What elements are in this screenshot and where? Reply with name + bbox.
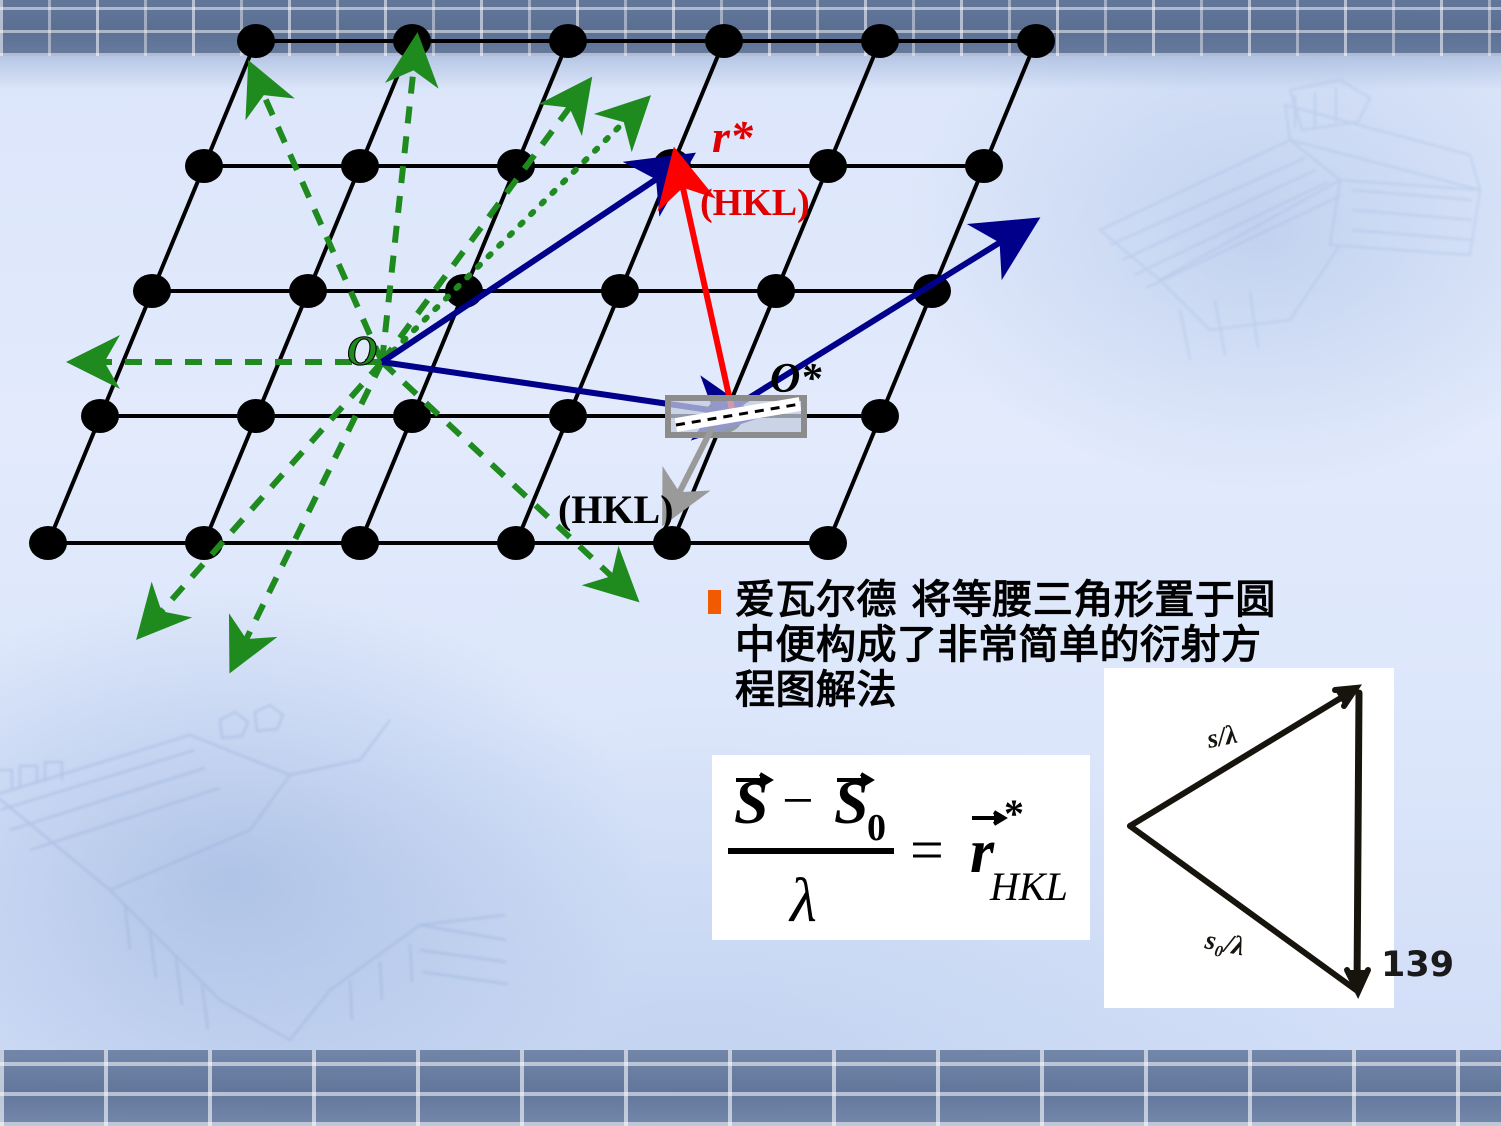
formula-hkl-sub: HKL bbox=[989, 864, 1068, 909]
slide-canvas: r* (HKL) O O* (HKL) 爱瓦尔德 将等腰三角形置于圆 中便构成了… bbox=[0, 0, 1501, 1126]
triangle-edge-vertical bbox=[1357, 693, 1359, 990]
diffracted-beam bbox=[723, 230, 1020, 414]
formula-S: S bbox=[734, 769, 768, 837]
formula-svg: S − S 0 λ = * r HKL bbox=[712, 755, 1090, 940]
bullet-marker bbox=[708, 590, 721, 614]
body-text-line-2: 中便构成了非常简单的衍射方 bbox=[735, 623, 1276, 668]
formula-box: S − S 0 λ = * r HKL bbox=[712, 755, 1090, 940]
formula-minus: − bbox=[782, 770, 814, 832]
vector-triangle-figure: s/λ s₀/λ bbox=[1104, 668, 1394, 1008]
formula-S0-sub: 0 bbox=[867, 807, 886, 849]
triangle-edge-s bbox=[1130, 690, 1354, 826]
triangle-edge-s0 bbox=[1130, 826, 1356, 990]
label-r-star: r* bbox=[712, 111, 754, 162]
formula-equals: = bbox=[910, 817, 944, 883]
page-number: 139 bbox=[1381, 945, 1454, 985]
formula-r-star: * bbox=[1004, 791, 1024, 836]
label-origin-star: O* bbox=[770, 356, 822, 402]
label-hkl-red: (HKL) bbox=[700, 182, 810, 224]
label-origin: O bbox=[347, 329, 377, 375]
triangle-label-upper: s/λ bbox=[1203, 719, 1239, 754]
reflecting-plane-box bbox=[668, 398, 804, 435]
formula-S0: S bbox=[834, 769, 868, 837]
body-text-line-1: 爱瓦尔德 将等腰三角形置于圆 bbox=[735, 578, 1276, 623]
plane-trace-dotted bbox=[382, 112, 634, 362]
lattice-grid bbox=[48, 41, 1043, 543]
triangle-label-lower: s₀/λ bbox=[1202, 924, 1247, 961]
vector-triangle-svg: s/λ s₀/λ bbox=[1104, 668, 1394, 1008]
formula-lambda: λ bbox=[788, 867, 817, 935]
label-hkl-black: (HKL) bbox=[558, 487, 674, 532]
